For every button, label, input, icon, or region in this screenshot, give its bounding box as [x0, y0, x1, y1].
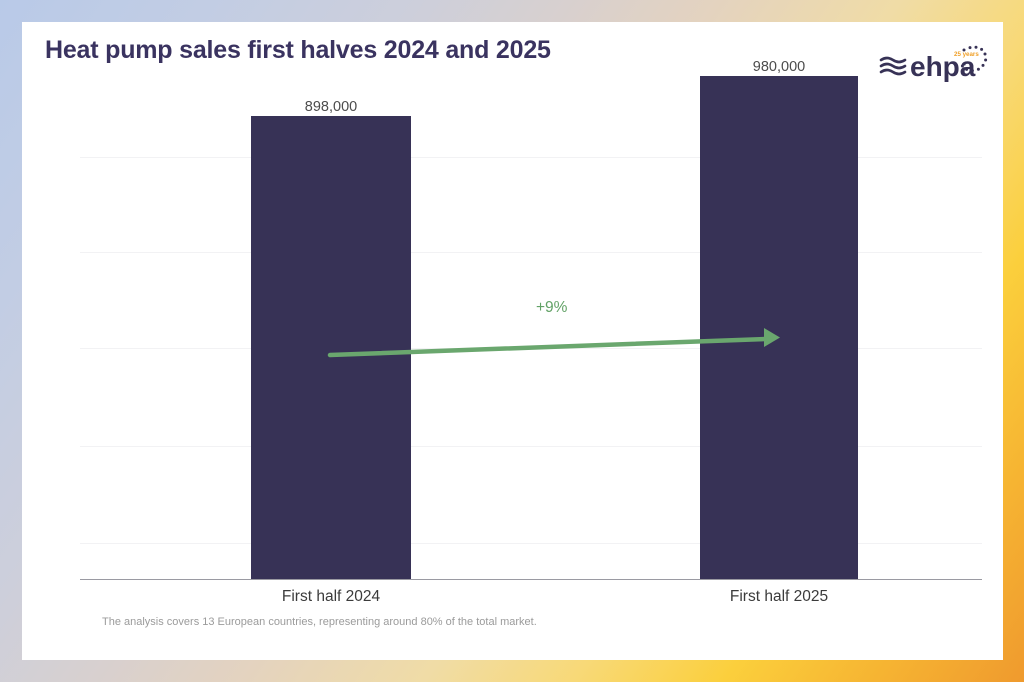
plot-area: 898,000 980,000 +9% First half 2024 Firs… [80, 52, 982, 580]
screenshot-stage: Heat pump sales first halves 2024 and 20… [0, 0, 1024, 682]
bar-first-half-2024[interactable] [251, 116, 411, 579]
bar-first-half-2025[interactable] [700, 76, 858, 579]
x-axis-label-2025: First half 2025 [679, 588, 879, 606]
bar-value-2025: 980,000 [700, 59, 858, 75]
chart-footnote: The analysis covers 13 European countrie… [102, 616, 537, 628]
x-axis-line [80, 579, 982, 581]
bar-value-2024: 898,000 [251, 99, 411, 115]
chart-card: Heat pump sales first halves 2024 and 20… [22, 22, 1003, 660]
x-axis-label-2024: First half 2024 [231, 588, 431, 606]
growth-percentage-label: +9% [536, 299, 567, 317]
